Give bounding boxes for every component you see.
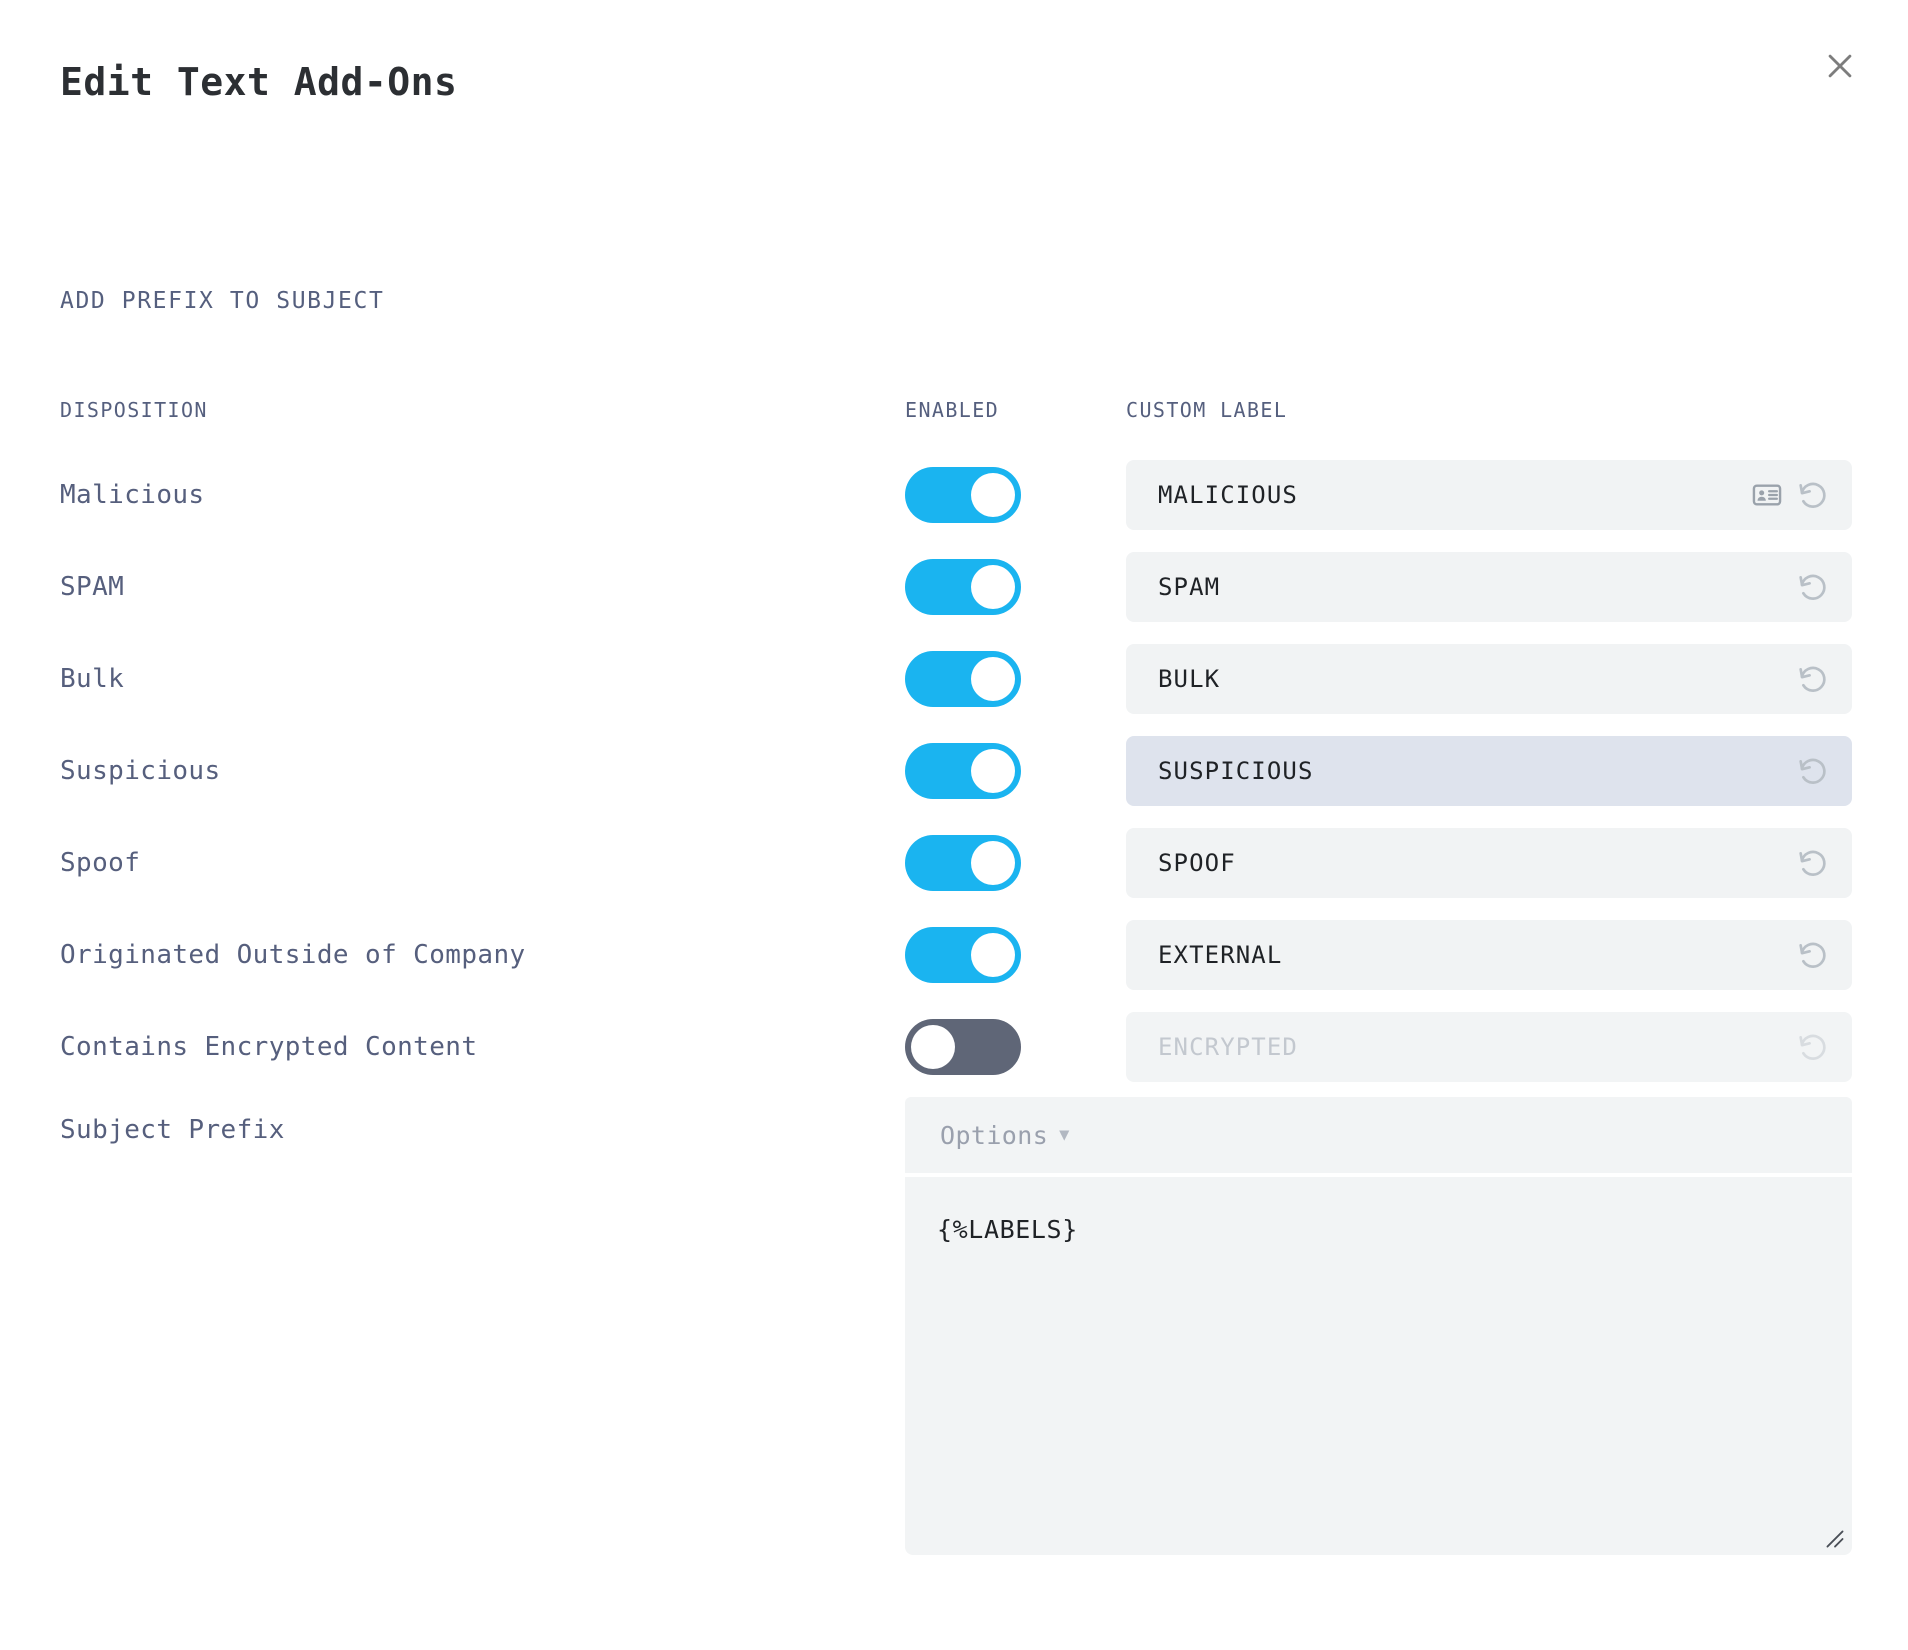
enabled-toggle[interactable] [905, 1019, 1021, 1075]
custom-label-value: SUSPICIOUS [1158, 757, 1314, 785]
custom-label-input[interactable]: BULK [1126, 644, 1852, 714]
disposition-label: SPAM [60, 552, 124, 622]
table-column-headers: DISPOSITION ENABLED CUSTOM LABEL [0, 398, 1908, 428]
input-icon-group [1796, 644, 1830, 714]
toggle-knob [971, 657, 1015, 701]
disposition-rows: MaliciousMALICIOUSSPAMSPAMBulkBULKSuspic… [0, 460, 1908, 1104]
custom-label-input[interactable]: SPAM [1126, 552, 1852, 622]
reset-icon[interactable] [1796, 570, 1830, 604]
table-row: Originated Outside of CompanyEXTERNAL [0, 920, 1908, 1012]
input-icon-group [1796, 828, 1830, 898]
contact-card-icon[interactable] [1750, 478, 1784, 512]
custom-label-value: SPAM [1158, 573, 1220, 601]
disposition-label: Spoof [60, 828, 140, 898]
options-dropdown[interactable]: Options ▼ [905, 1097, 1852, 1173]
disposition-label: Contains Encrypted Content [60, 1012, 477, 1082]
resize-handle-icon[interactable] [1824, 1528, 1846, 1550]
column-header-custom-label: CUSTOM LABEL [1126, 398, 1287, 422]
reset-icon[interactable] [1796, 754, 1830, 788]
input-icon-group [1750, 460, 1830, 530]
reset-icon[interactable] [1796, 846, 1830, 880]
disposition-label: Bulk [60, 644, 124, 714]
toggle-knob [971, 473, 1015, 517]
custom-label-value: EXTERNAL [1158, 941, 1282, 969]
page-title: Edit Text Add-Ons [60, 60, 457, 104]
table-row: SuspiciousSUSPICIOUS [0, 736, 1908, 828]
table-row: Contains Encrypted ContentENCRYPTED [0, 1012, 1908, 1104]
options-dropdown-label: Options [940, 1121, 1048, 1150]
custom-label-input[interactable]: EXTERNAL [1126, 920, 1852, 990]
table-row: SPAMSPAM [0, 552, 1908, 644]
column-header-disposition: DISPOSITION [60, 398, 208, 422]
subject-prefix-textarea[interactable]: {%LABELS} [905, 1177, 1852, 1555]
enabled-toggle[interactable] [905, 927, 1021, 983]
toggle-knob [911, 1025, 955, 1069]
input-icon-group [1796, 1012, 1830, 1082]
chevron-down-icon: ▼ [1059, 1127, 1069, 1144]
input-icon-group [1796, 552, 1830, 622]
custom-label-input: ENCRYPTED [1126, 1012, 1852, 1082]
disposition-label: Malicious [60, 460, 204, 530]
disposition-label: Originated Outside of Company [60, 920, 526, 990]
input-icon-group [1796, 920, 1830, 990]
enabled-toggle[interactable] [905, 559, 1021, 615]
subject-prefix-label: Subject Prefix [60, 1115, 285, 1145]
enabled-toggle[interactable] [905, 835, 1021, 891]
dialog-header: Edit Text Add-Ons [0, 0, 1908, 150]
table-row: MaliciousMALICIOUS [0, 460, 1908, 552]
custom-label-input[interactable]: SUSPICIOUS [1126, 736, 1852, 806]
toggle-knob [971, 749, 1015, 793]
subject-prefix-value: {%LABELS} [937, 1215, 1078, 1244]
input-icon-group [1796, 736, 1830, 806]
enabled-toggle[interactable] [905, 467, 1021, 523]
table-row: SpoofSPOOF [0, 828, 1908, 920]
reset-icon[interactable] [1796, 478, 1830, 512]
edit-text-addons-dialog: Edit Text Add-Ons ADD PREFIX TO SUBJECT … [0, 0, 1908, 1650]
section-label: ADD PREFIX TO SUBJECT [60, 288, 384, 314]
toggle-knob [971, 933, 1015, 977]
reset-icon [1796, 1030, 1830, 1064]
custom-label-value: ENCRYPTED [1158, 1033, 1298, 1061]
custom-label-input[interactable]: MALICIOUS [1126, 460, 1852, 530]
table-row: BulkBULK [0, 644, 1908, 736]
custom-label-value: MALICIOUS [1158, 481, 1298, 509]
custom-label-value: SPOOF [1158, 849, 1236, 877]
enabled-toggle[interactable] [905, 651, 1021, 707]
toggle-knob [971, 565, 1015, 609]
disposition-label: Suspicious [60, 736, 221, 806]
column-header-enabled: ENABLED [905, 398, 999, 422]
custom-label-input[interactable]: SPOOF [1126, 828, 1852, 898]
custom-label-value: BULK [1158, 665, 1220, 693]
reset-icon[interactable] [1796, 938, 1830, 972]
reset-icon[interactable] [1796, 662, 1830, 696]
enabled-toggle[interactable] [905, 743, 1021, 799]
close-icon[interactable] [1812, 38, 1868, 94]
toggle-knob [971, 841, 1015, 885]
